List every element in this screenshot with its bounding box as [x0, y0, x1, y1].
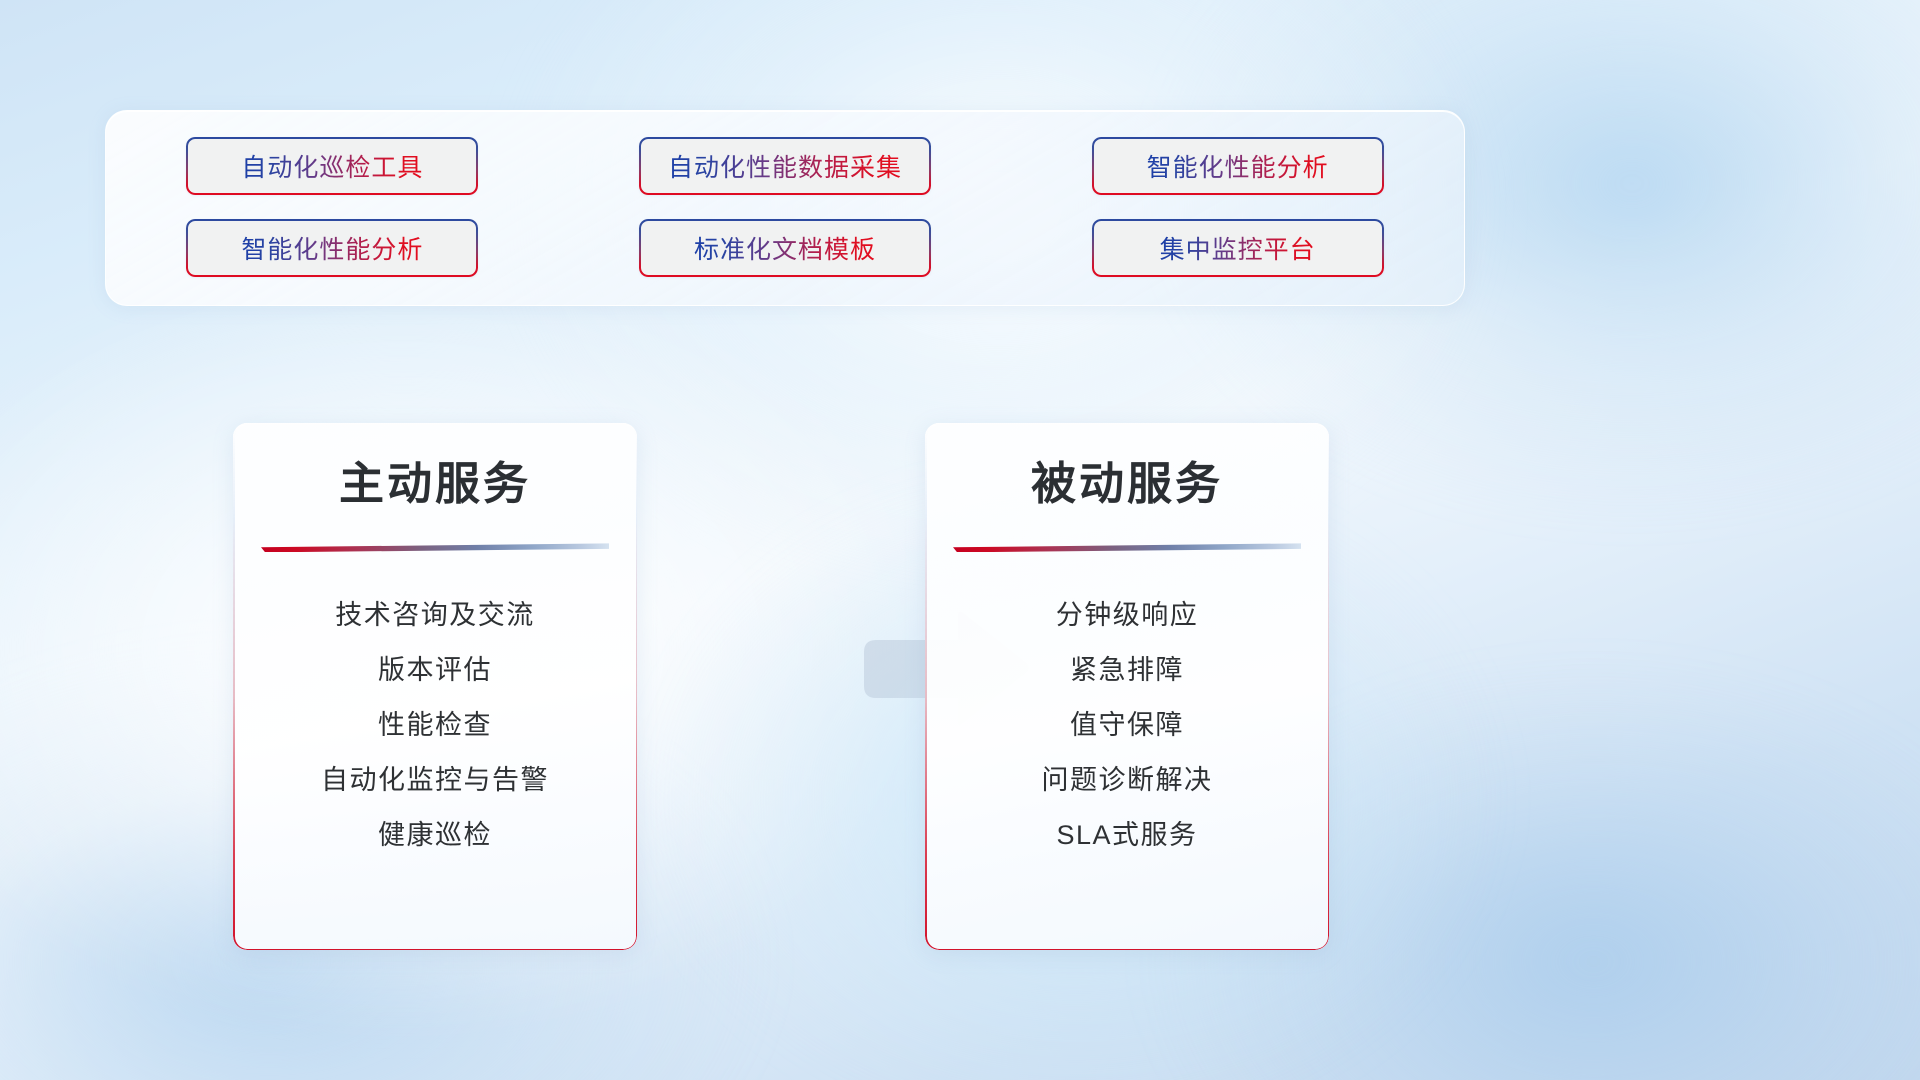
capability-chip-label: 智能化性能分析	[241, 230, 423, 266]
service-card-item-list: 分钟级响应 紧急排障 值守保障 问题诊断解决 SLA式服务	[925, 588, 1329, 863]
capability-panel: 自动化巡检工具 自动化性能数据采集 智能化性能分析 智能化性能分析 标准化文档模…	[105, 110, 1465, 306]
capability-chip-standardized-document-template[interactable]: 标准化文档模板	[639, 219, 931, 277]
capability-chip-centralized-monitoring-platform[interactable]: 集中监控平台	[1092, 219, 1384, 277]
list-item: 性能检查	[378, 698, 492, 753]
list-item: 自动化监控与告警	[321, 753, 549, 808]
service-card-divider	[261, 543, 609, 552]
list-item: 值守保障	[1070, 698, 1184, 753]
capability-chip-intelligent-performance-analysis-2[interactable]: 智能化性能分析	[186, 219, 478, 277]
capability-chip-intelligent-performance-analysis-1[interactable]: 智能化性能分析	[1092, 137, 1384, 195]
list-item: 问题诊断解决	[1042, 753, 1213, 808]
capability-chip-label: 自动化性能数据采集	[668, 148, 902, 184]
service-card-active: 主动服务 技术咨询及交流 版本评估 性能检查 自动化监控与告警 健康巡检	[233, 423, 637, 950]
capability-chip-label: 集中监控平台	[1160, 230, 1316, 266]
capability-chip-label: 智能化性能分析	[1147, 148, 1329, 184]
service-card-title: 被动服务	[925, 461, 1329, 506]
capability-chip-label: 标准化文档模板	[694, 230, 876, 266]
divider-gradient-bar	[953, 543, 1301, 552]
service-card-title: 主动服务	[233, 461, 637, 506]
list-item: 版本评估	[378, 643, 492, 698]
list-item: 分钟级响应	[1056, 588, 1199, 643]
list-item: 紧急排障	[1070, 643, 1184, 698]
capability-chip-automated-inspection-tool[interactable]: 自动化巡检工具	[186, 137, 478, 195]
divider-gradient-bar	[261, 543, 609, 552]
list-item: SLA式服务	[1056, 808, 1197, 863]
list-item: 健康巡检	[378, 808, 492, 863]
capability-chip-automated-performance-data-collection[interactable]: 自动化性能数据采集	[639, 137, 931, 195]
capability-chip-label: 自动化巡检工具	[241, 148, 423, 184]
capability-chip-grid: 自动化巡检工具 自动化性能数据采集 智能化性能分析 智能化性能分析 标准化文档模…	[106, 111, 1464, 305]
service-card-item-list: 技术咨询及交流 版本评估 性能检查 自动化监控与告警 健康巡检	[233, 588, 637, 863]
service-card-passive: 被动服务 分钟级响应 紧急排障 值守保障 问题诊断解决 SLA式服务	[925, 423, 1329, 950]
service-card-divider	[953, 543, 1301, 552]
list-item: 技术咨询及交流	[335, 588, 535, 643]
